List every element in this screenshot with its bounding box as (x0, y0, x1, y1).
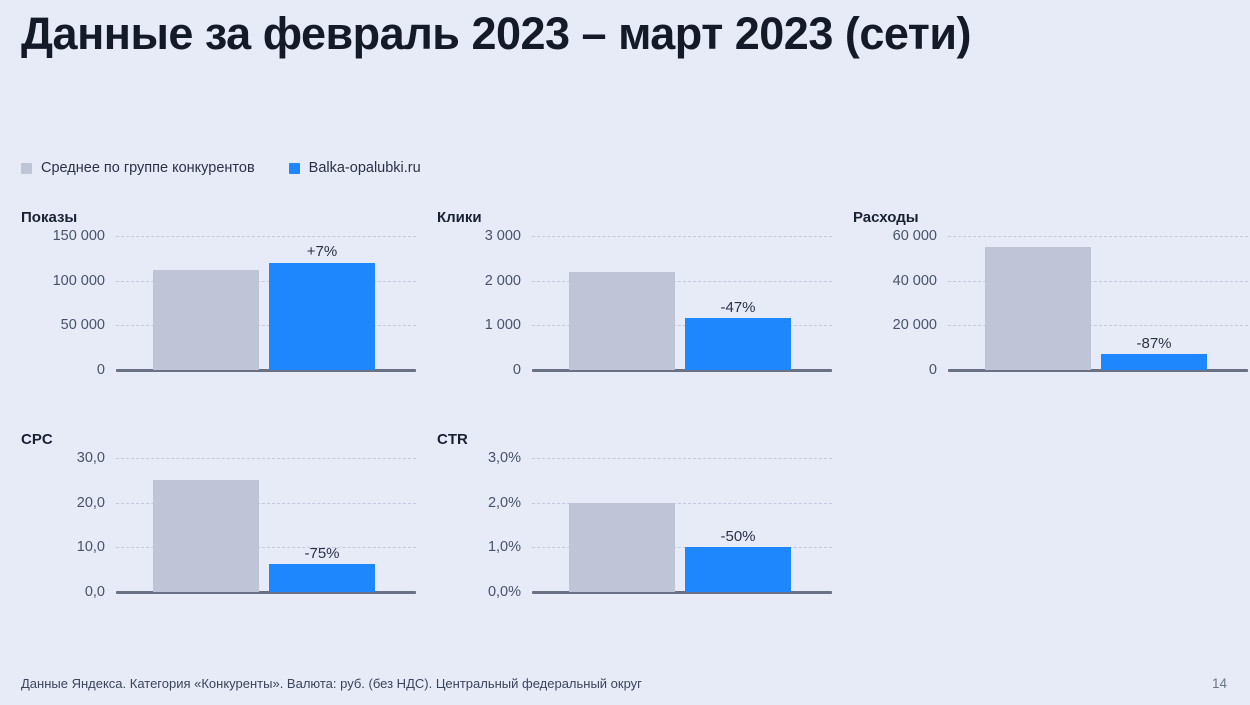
y-axis-cpc: 30,0 20,0 10,0 0,0 (21, 458, 113, 592)
charts-grid: Показы 150 000 100 000 50 000 0 + (0, 208, 1250, 652)
y-tick-label: 1,0% (488, 539, 521, 555)
y-tick-label: 20 000 (893, 317, 937, 333)
y-tick-label: 3,0% (488, 450, 521, 466)
chart-legend: Среднее по группе конкурентов Balka-opal… (21, 160, 421, 176)
y-tick-label: 0 (97, 362, 105, 378)
y-axis-ctr: 3,0% 2,0% 1,0% 0,0% (437, 458, 529, 592)
bar-site (269, 263, 375, 370)
y-tick-label: 0 (513, 362, 521, 378)
bar-site (685, 547, 791, 592)
plot-ctr: 3,0% 2,0% 1,0% 0,0% -50% (437, 458, 837, 613)
bars-pokazy: +7% (153, 236, 375, 370)
chart-title-cpc: CPC (21, 430, 421, 449)
bar-competitors (569, 503, 675, 592)
y-tick-label: 2,0% (488, 495, 521, 511)
bar-competitors (153, 270, 259, 370)
y-tick-label: 30,0 (77, 450, 105, 466)
y-tick-label: 60 000 (893, 228, 937, 244)
page-title: Данные за февраль 2023 – март 2023 (сети… (21, 8, 971, 60)
bars-ctr: -50% (569, 458, 791, 592)
chart-pokazy: Показы 150 000 100 000 50 000 0 + (21, 208, 421, 408)
y-tick-label: 20,0 (77, 495, 105, 511)
plot-area-kliki: -47% (532, 236, 832, 370)
plot-rashody: 60 000 40 000 20 000 0 -87% (853, 236, 1250, 391)
chart-title-kliki: Клики (437, 208, 837, 227)
legend-swatch-gray-icon (21, 163, 32, 174)
bars-kliki: -47% (569, 236, 791, 370)
bar-competitors (985, 247, 1091, 370)
legend-label-site: Balka-opalubki.ru (309, 160, 421, 176)
bar-delta-label: -50% (685, 528, 791, 545)
bar-site (1101, 354, 1207, 370)
y-tick-label: 10,0 (77, 539, 105, 555)
bar-competitors (153, 480, 259, 592)
bar-delta-label: -47% (685, 299, 791, 316)
bars-cpc: -75% (153, 458, 375, 592)
bar-delta-label: -87% (1101, 335, 1207, 352)
legend-label-competitors: Среднее по группе конкурентов (41, 160, 255, 176)
y-axis-pokazy: 150 000 100 000 50 000 0 (21, 236, 113, 370)
bar-site (685, 318, 791, 370)
bar-delta-label: -75% (269, 545, 375, 562)
legend-swatch-blue-icon (289, 163, 300, 174)
chart-title-rashody: Расходы (853, 208, 1250, 227)
plot-pokazy: 150 000 100 000 50 000 0 +7% (21, 236, 421, 391)
chart-title-ctr: CTR (437, 430, 837, 449)
y-tick-label: 150 000 (53, 228, 105, 244)
y-tick-label: 0,0 (85, 584, 105, 600)
plot-area-ctr: -50% (532, 458, 832, 592)
y-tick-label: 3 000 (485, 228, 521, 244)
plot-area-pokazy: +7% (116, 236, 416, 370)
plot-area-rashody: -87% (948, 236, 1248, 370)
chart-row-bottom: CPC 30,0 20,0 10,0 0,0 -75% (0, 430, 1250, 652)
chart-rashody: Расходы 60 000 40 000 20 000 0 -8 (853, 208, 1250, 408)
y-axis-rashody: 60 000 40 000 20 000 0 (853, 236, 945, 370)
bar-delta-label: +7% (269, 243, 375, 260)
legend-item-site: Balka-opalubki.ru (289, 160, 421, 176)
chart-kliki: Клики 3 000 2 000 1 000 0 -47% (437, 208, 837, 408)
chart-row-top: Показы 150 000 100 000 50 000 0 + (0, 208, 1250, 430)
chart-title-pokazy: Показы (21, 208, 421, 227)
y-tick-label: 0 (929, 362, 937, 378)
plot-cpc: 30,0 20,0 10,0 0,0 -75% (21, 458, 421, 613)
y-axis-kliki: 3 000 2 000 1 000 0 (437, 236, 529, 370)
y-tick-label: 0,0% (488, 584, 521, 600)
y-tick-label: 100 000 (53, 273, 105, 289)
y-tick-label: 2 000 (485, 273, 521, 289)
y-tick-label: 1 000 (485, 317, 521, 333)
page-number: 14 (1212, 676, 1227, 691)
bars-rashody: -87% (985, 236, 1207, 370)
y-tick-label: 50 000 (61, 317, 105, 333)
y-tick-label: 40 000 (893, 273, 937, 289)
chart-cpc: CPC 30,0 20,0 10,0 0,0 -75% (21, 430, 421, 630)
plot-area-cpc: -75% (116, 458, 416, 592)
footer-note: Данные Яндекса. Категория «Конкуренты». … (21, 676, 642, 691)
chart-ctr: CTR 3,0% 2,0% 1,0% 0,0% -50% (437, 430, 837, 630)
plot-kliki: 3 000 2 000 1 000 0 -47% (437, 236, 837, 391)
bar-competitors (569, 272, 675, 370)
legend-item-competitors: Среднее по группе конкурентов (21, 160, 255, 176)
bar-site (269, 564, 375, 592)
